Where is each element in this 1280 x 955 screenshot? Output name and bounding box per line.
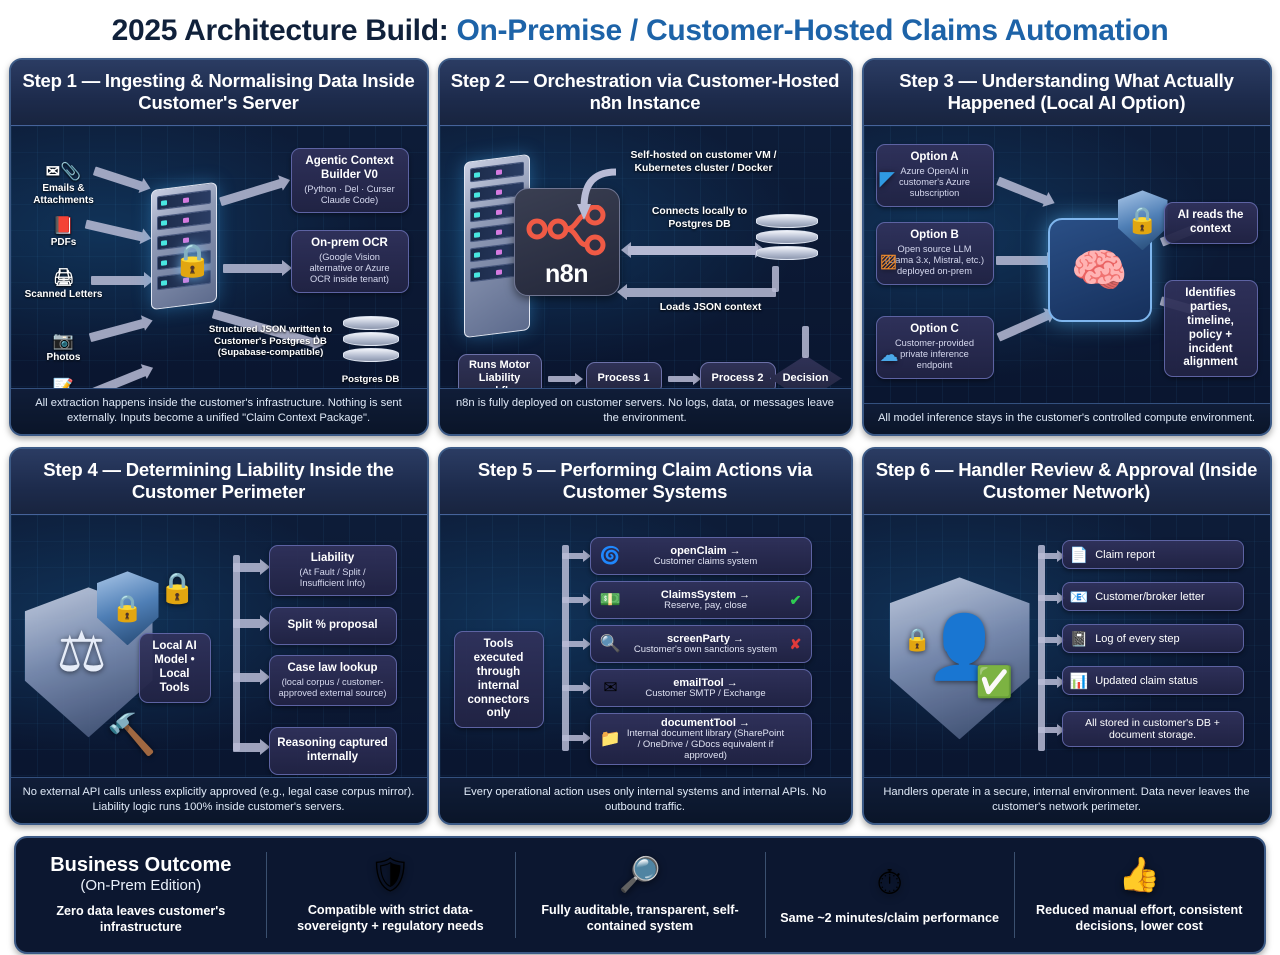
arrow-flow-2 xyxy=(668,376,694,382)
arrow-tool-4 xyxy=(562,685,584,691)
outcome-cell-auditable: 🔎 Fully auditable, transparent, self-con… xyxy=(515,838,765,952)
chip-ai-reads-context: AI reads the context xyxy=(1164,202,1258,244)
steps-row-2: Step 4 — Determining Liability Inside th… xyxy=(0,447,1280,825)
curved-arrow-icon xyxy=(570,166,622,222)
flow-process-1: Process 1 xyxy=(586,362,662,387)
step-3-heading: Step 3 — Understanding What Actually Hap… xyxy=(864,60,1270,126)
connector-line xyxy=(772,266,779,292)
step-5-body: Tools executed through internal connecto… xyxy=(440,515,851,776)
chip-reasoning-captured: Reasoning captured internally xyxy=(269,727,397,775)
card-step-2: Step 2 — Orchestration via Customer-Host… xyxy=(438,58,853,436)
arrow-reasoning xyxy=(233,743,261,752)
chip-agentic-context-builder: Agentic Context Builder V0 (Python · Del… xyxy=(291,148,409,213)
step-5-footer: Every operational action uses only inter… xyxy=(440,777,851,823)
status-check-icon: ✔ xyxy=(787,592,805,609)
output-log-of-every-step: 📓 Log of every step xyxy=(1062,624,1244,653)
outcome-cell-sovereignty: 🛡 Compatible with strict data-sovereignt… xyxy=(266,838,516,952)
magnifier-icon: 🔍 xyxy=(597,634,625,654)
shield-flag-icon: 🛡 xyxy=(369,855,412,895)
tool-row-screenparty[interactable]: 🔍 screenParty → Customer's own sanctions… xyxy=(590,625,812,663)
fanout-spine xyxy=(233,555,240,751)
input-label-notes: 📝 Notes xyxy=(33,378,95,387)
camera-icon: 📷 xyxy=(53,331,74,350)
outcome-text-2: Compatible with strict data-sovereignty … xyxy=(276,903,506,934)
arrow-loads-json xyxy=(626,288,776,297)
page-title-accent: On-Premise / Customer-Hosted Claims Auto… xyxy=(456,14,1168,47)
card-step-4: Step 4 — Determining Liability Inside th… xyxy=(9,447,429,825)
arrow-option-c xyxy=(996,312,1049,342)
arrow-db-to-n8n xyxy=(630,246,758,255)
arrow-notes xyxy=(89,368,146,388)
postgres-db-icon xyxy=(343,316,399,366)
card-step-6: Step 6 — Handler Review & Approval (Insi… xyxy=(862,447,1272,825)
n8n-label: n8n xyxy=(515,260,619,289)
outcome-text-4: Same ~2 minutes/claim performance xyxy=(780,911,999,927)
steps-row-1: Step 1 — Ingesting & Normalising Data In… xyxy=(0,58,1280,436)
step-2-footer: n8n is fully deployed on customer server… xyxy=(440,388,851,434)
lock-icon: 🔒 xyxy=(173,241,213,279)
card-step-1: Step 1 — Ingesting & Normalising Data In… xyxy=(9,58,429,436)
decision-connector xyxy=(802,326,809,358)
step-4-footer: No external API calls unless explicitly … xyxy=(11,777,427,823)
page-title: 2025 Architecture Build: On-Premise / Cu… xyxy=(0,0,1280,58)
scales-of-justice-icon: ⚖ xyxy=(57,619,107,685)
tool-row-openclaim[interactable]: 🌀 openClaim → Customer claims system xyxy=(590,537,812,575)
outcome-text-1: Zero data leaves customer's infrastructu… xyxy=(26,904,256,935)
arrow-split xyxy=(233,619,261,628)
envelope-paperclip-icon: ✉📎 xyxy=(46,162,81,181)
arrow-tool-5 xyxy=(562,735,584,741)
letter-icon: 📧 xyxy=(1070,588,1089,606)
padlock-icon: 🔒 xyxy=(904,627,931,653)
card-step-3: Step 3 — Understanding What Actually Hap… xyxy=(862,58,1272,436)
arrow-flow-1 xyxy=(548,376,576,382)
step-4-heading: Step 4 — Determining Liability Inside th… xyxy=(11,449,427,515)
flow-runs-motor-liability: Runs Motor Liability workflow xyxy=(458,354,542,387)
flow-decision: Decision xyxy=(770,355,842,387)
step-2-body: n8n Self-hosted on customer VM / Kuberne… xyxy=(440,126,851,387)
status-cross-icon: ✘ xyxy=(787,636,805,653)
chip-tools-executed: Tools executed through internal connecto… xyxy=(454,631,544,728)
input-label-photos: 📷 Photos xyxy=(33,331,95,363)
status-list-icon: 📊 xyxy=(1070,672,1089,690)
outcome-text-5: Reduced manual effort, consistent decisi… xyxy=(1024,903,1254,934)
arrow-output-1 xyxy=(1038,553,1058,559)
outcome-subtitle: (On-Prem Edition) xyxy=(80,877,201,894)
step-6-body: 👤 ✅ 🔒 📄 Claim report 📧 Customer/broker l… xyxy=(864,515,1270,776)
arrow-photos xyxy=(88,319,144,342)
money-check-icon: 💵 xyxy=(597,590,625,610)
handler-thumbsup-icon: 👍 xyxy=(1118,855,1160,895)
structured-json-note: Structured JSON written to Customer's Po… xyxy=(201,324,341,359)
arrow-output-5 xyxy=(1038,727,1058,733)
arrow-tool-3 xyxy=(562,641,584,647)
arrow-tool-2 xyxy=(562,597,584,603)
gavel-icon: 🔨 xyxy=(107,711,157,758)
pdf-file-icon: 📕 xyxy=(53,216,74,235)
step-6-heading: Step 6 — Handler Review & Approval (Insi… xyxy=(864,449,1270,515)
folder-icon: 📁 xyxy=(597,729,625,749)
mistral-icon: ▨ xyxy=(880,250,898,273)
chip-case-law-lookup: Case law lookup (local corpus / customer… xyxy=(269,655,397,706)
step-4-body: ⚖ 🔒 🔒 🔨 Local AI Model • Local Tools Lia… xyxy=(11,515,427,776)
outputs-spine xyxy=(1038,545,1045,751)
arrow-caselaw xyxy=(233,673,261,682)
step-3-body: Option A Azure OpenAI in customer's Azur… xyxy=(864,126,1270,403)
outcome-cell-performance: ⏱ Same ~2 minutes/claim performance xyxy=(765,838,1015,952)
infographic-root: 2025 Architecture Build: On-Premise / Cu… xyxy=(0,0,1280,955)
chip-liability: Liability (At Fault / Split / Insufficie… xyxy=(269,545,397,596)
step-3-footer: All model inference stays in the custome… xyxy=(864,403,1270,434)
stopwatch-icon: ⏱ xyxy=(876,864,903,903)
business-outcome-bar: Business Outcome (On-Prem Edition) Zero … xyxy=(14,836,1266,954)
claims-logo-icon: 🌀 xyxy=(597,546,625,566)
tools-spine xyxy=(562,545,569,751)
step-1-heading: Step 1 — Ingesting & Normalising Data In… xyxy=(11,60,427,126)
outcome-title: Business Outcome xyxy=(50,854,231,877)
arrow-liability xyxy=(233,563,261,572)
chip-identifies-parties: Identifies parties, timeline, policy + i… xyxy=(1164,280,1258,377)
self-hosted-note: Self-hosted on customer VM / Kubernetes … xyxy=(604,150,804,175)
output-customer-broker-letter: 📧 Customer/broker letter xyxy=(1062,582,1244,611)
output-claim-report: 📄 Claim report xyxy=(1062,540,1244,569)
tool-row-claimssystem[interactable]: 💵 ClaimsSystem → Reserve, pay, close ✔ xyxy=(590,581,812,619)
postgres-db-icon xyxy=(756,214,818,264)
step-2-heading: Step 2 — Orchestration via Customer-Host… xyxy=(440,60,851,126)
step-1-body: ✉📎 Emails & Attachments 📕 PDFs 🖨 Scanned… xyxy=(11,126,427,387)
arrow-output-2 xyxy=(1038,595,1058,601)
chip-split-proposal: Split % proposal xyxy=(269,607,397,645)
approval-check-icon: ✅ xyxy=(976,665,1013,700)
postgres-db-label: Postgres DB xyxy=(331,374,411,386)
envelope-icon: ✉ xyxy=(597,678,625,698)
card-step-5: Step 5 — Performing Claim Actions via Cu… xyxy=(438,447,853,825)
notepad-pencil-icon: 📝 xyxy=(53,378,74,387)
padlock-icon: 🔒 xyxy=(159,571,196,606)
page-title-lead: 2025 Architecture Build: xyxy=(112,14,449,47)
audit-magnifier-icon: 🔎 xyxy=(619,855,661,895)
chip-local-ai-model: Local AI Model • Local Tools xyxy=(139,633,211,702)
outcome-text-3: Fully auditable, transparent, self-conta… xyxy=(525,903,755,934)
outcome-cell-effort: 👍 Reduced manual effort, consistent deci… xyxy=(1014,838,1264,952)
step-5-heading: Step 5 — Performing Claim Actions via Cu… xyxy=(440,449,851,515)
arrow-option-b xyxy=(996,256,1048,265)
outcome-cell-title: Business Outcome (On-Prem Edition) Zero … xyxy=(16,838,266,952)
chip-onprem-ocr: On-prem OCR (Google Vision alternative o… xyxy=(291,230,409,292)
arrow-to-ocr xyxy=(223,264,283,273)
azure-icon: ◤ xyxy=(880,166,895,191)
step-1-footer: All extraction happens inside the custom… xyxy=(11,388,427,434)
loads-json-note: Loads JSON context xyxy=(636,302,786,314)
step-6-footer: Handlers operate in a secure, internal e… xyxy=(864,777,1270,823)
document-icon: 📄 xyxy=(1070,546,1089,564)
arrow-output-3 xyxy=(1038,637,1058,643)
scanner-icon: 🖨 xyxy=(53,268,75,287)
cloud-icon: ☁ xyxy=(880,344,899,367)
arrow-to-context-builder xyxy=(219,179,283,206)
tool-row-emailtool[interactable]: ✉ emailTool → Customer SMTP / Exchange xyxy=(590,669,812,707)
arrow-output-4 xyxy=(1038,679,1058,685)
arrow-option-a xyxy=(996,177,1048,205)
tool-row-documenttool[interactable]: 📁 documentTool → Internal document libra… xyxy=(590,713,812,765)
logbook-icon: 📓 xyxy=(1070,630,1089,648)
output-updated-claim-status: 📊 Updated claim status xyxy=(1062,666,1244,695)
output-storage-note: All stored in customer's DB + document s… xyxy=(1062,711,1244,747)
arrow-scanned xyxy=(91,276,145,285)
flow-process-2: Process 2 xyxy=(700,362,776,387)
arrow-tool-1 xyxy=(562,553,584,559)
connects-locally-note: Connects locally to Postgres DB xyxy=(630,206,770,231)
